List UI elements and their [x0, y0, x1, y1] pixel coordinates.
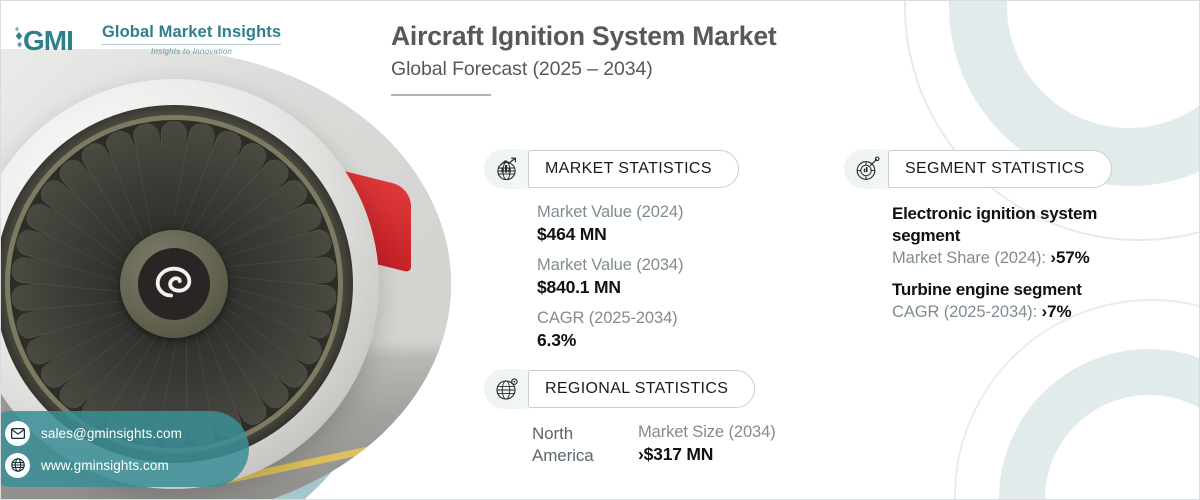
cagr-label: CAGR (2025-2034): [537, 307, 739, 329]
segment-statistics-block: SEGMENT STATISTICS Electronic ignition s…: [844, 149, 1154, 334]
segment-2-metric-value: ›7%: [1042, 302, 1072, 321]
segment-1-metric: Market Share (2024): ›57%: [892, 247, 1154, 270]
hero-image-panel: sales@gminsights.com www.gminsights.com: [1, 1, 453, 500]
regional-statistics-pill: REGIONAL STATISTICS: [528, 370, 755, 408]
brand-text-block: Global Market Insights Insights to Innov…: [102, 24, 281, 55]
brand-tagline: Insights to Innovation: [102, 47, 281, 56]
globe-icon: [5, 453, 30, 478]
svg-text:GMI: GMI: [23, 25, 73, 56]
segment-statistics-body: Electronic ignition system segment Marke…: [844, 203, 1154, 324]
regional-statistics-body: North America Market Size (2034) ›$317 M…: [484, 423, 776, 467]
regional-statistics-header: REGIONAL STATISTICS: [484, 369, 776, 409]
brand-company-name: Global Market Insights: [102, 24, 281, 41]
market-value-2024-value: $464 MN: [537, 223, 739, 247]
decorative-arc-bottom-right: [999, 349, 1200, 500]
page-title: Aircraft Ignition System Market: [391, 21, 777, 53]
segment-2-metric: CAGR (2025-2034): ›7%: [892, 301, 1154, 324]
segment-statistics-header: SEGMENT STATISTICS: [844, 149, 1154, 189]
contact-email-row[interactable]: sales@gminsights.com: [5, 421, 231, 446]
market-statistics-pill: MARKET STATISTICS: [528, 150, 739, 188]
cagr-value: 6.3%: [537, 329, 739, 353]
globe-growth-chart-icon: [484, 149, 530, 189]
pie-chart-arrow-icon: [844, 149, 890, 189]
market-statistics-header: MARKET STATISTICS: [484, 149, 739, 189]
contact-website-text: www.gminsights.com: [41, 458, 169, 473]
infographic-canvas: sales@gminsights.com www.gminsights.com: [0, 0, 1200, 500]
brand-logo[interactable]: GMI Global Market Insights Insights to I…: [15, 23, 281, 57]
brand-divider: [102, 44, 281, 45]
contact-email-text: sales@gminsights.com: [41, 426, 182, 441]
market-statistics-heading: MARKET STATISTICS: [545, 160, 712, 178]
market-value-2034-value: $840.1 MN: [537, 276, 739, 300]
region-name: North America: [532, 423, 616, 467]
engine-fan-housing: [1, 105, 353, 463]
page-subtitle: Global Forecast (2025 – 2034): [391, 58, 777, 81]
segment-statistics-heading: SEGMENT STATISTICS: [905, 160, 1085, 178]
contact-website-row[interactable]: www.gminsights.com: [5, 453, 231, 478]
engine-spinner-cone: [120, 230, 228, 338]
market-statistics-block: MARKET STATISTICS Market Value (2024) $4…: [484, 149, 739, 360]
title-underline: [391, 94, 491, 96]
segment-statistics-pill: SEGMENT STATISTICS: [888, 150, 1112, 188]
regional-statistics-heading: REGIONAL STATISTICS: [545, 380, 728, 398]
engine-swirl-marking: [151, 261, 197, 307]
region-metric-value: ›$317 MN: [638, 444, 776, 465]
market-value-2034-label: Market Value (2034): [537, 254, 739, 276]
region-metric-label: Market Size (2034): [638, 423, 776, 442]
segment-1-metric-value: ›57%: [1050, 248, 1089, 267]
segment-1-name: Electronic ignition system segment: [892, 203, 1154, 247]
market-value-2024-label: Market Value (2024): [537, 201, 739, 223]
segment-2-name: Turbine engine segment: [892, 279, 1154, 301]
market-statistics-body: Market Value (2024) $464 MN Market Value…: [484, 201, 739, 353]
segment-1-metric-label: Market Share (2024):: [892, 249, 1046, 267]
envelope-icon: [5, 421, 30, 446]
gmi-logo-icon: GMI: [15, 23, 93, 57]
segment-2-metric-label: CAGR (2025-2034):: [892, 303, 1037, 321]
page-title-block: Aircraft Ignition System Market Global F…: [391, 21, 777, 96]
regional-statistics-block: REGIONAL STATISTICS North America Market…: [484, 369, 776, 467]
region-metric: Market Size (2034) ›$317 MN: [638, 423, 776, 467]
engine-spinner-hub: [138, 248, 210, 320]
globe-pin-icon: [484, 369, 530, 409]
contact-info-bar: sales@gminsights.com www.gminsights.com: [1, 411, 249, 487]
